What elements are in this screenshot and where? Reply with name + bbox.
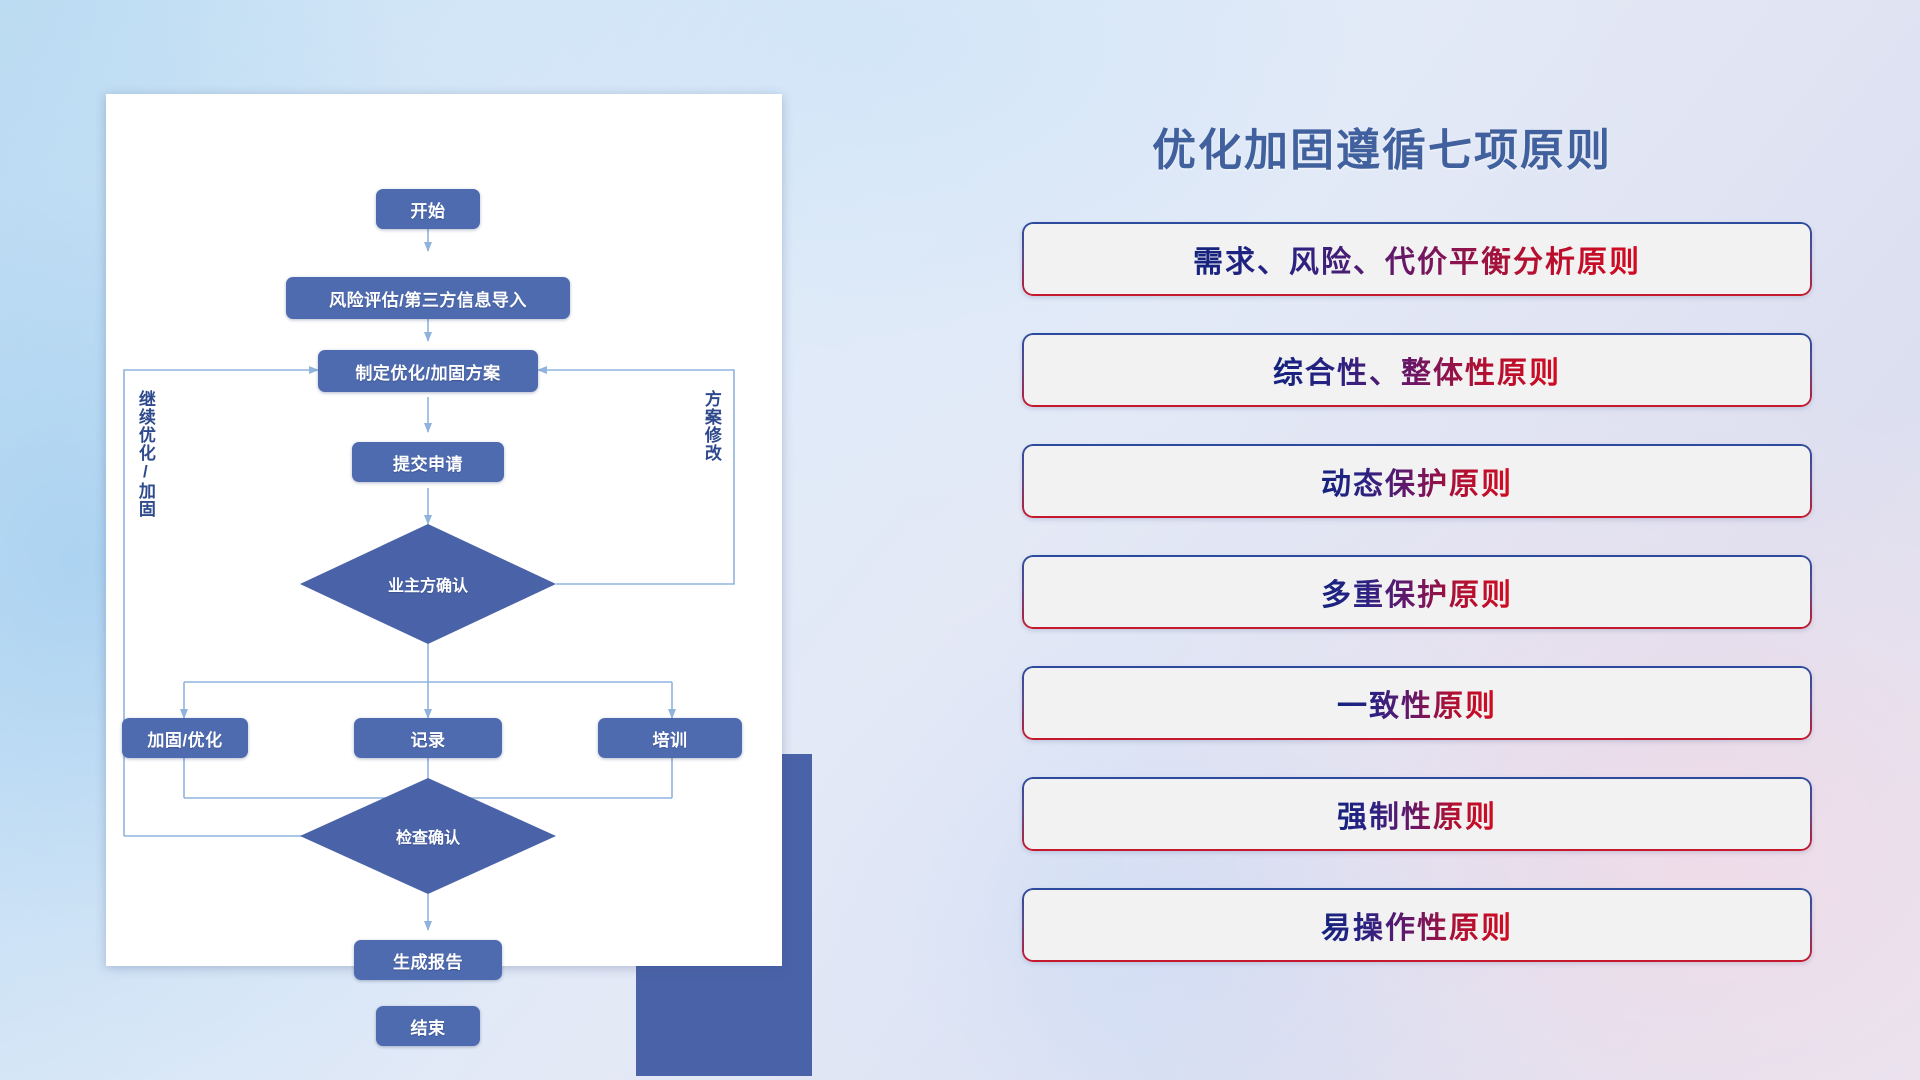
flowchart-panel: 开始 风险评估/第三方信息导入 制定优化/加固方案 提交申请 业主方确认 加固/… [106,94,782,966]
principle-card-label: 动态保护原则 [1321,459,1513,503]
flow-node-reinforce-optimize[interactable]: 加固/优化 [122,718,248,758]
principle-card-label: 综合性、整体性原则 [1273,348,1561,392]
principle-card[interactable]: 易操作性原则 [1022,888,1812,962]
principles-panel: 优化加固遵循七项原则 需求、风险、代价平衡分析原则 综合性、整体性原则 动态保护… [1022,94,1812,984]
flow-decision-owner-confirm-label: 业主方确认 [388,572,468,596]
flow-node-generate-report[interactable]: 生成报告 [354,940,502,980]
flow-node-submit-application-label: 提交申请 [393,450,463,475]
principle-card-label: 一致性原则 [1337,681,1497,725]
flow-node-start-label: 开始 [411,197,446,222]
flow-node-submit-application[interactable]: 提交申请 [352,442,504,482]
flow-node-make-plan[interactable]: 制定优化/加固方案 [318,350,538,392]
flow-node-end-label: 结束 [411,1014,446,1039]
principles-title: 优化加固遵循七项原则 [1152,114,1612,178]
flow-node-risk-assessment[interactable]: 风险评估/第三方信息导入 [286,277,570,319]
flow-node-risk-assessment-label: 风险评估/第三方信息导入 [329,286,527,311]
flow-node-start[interactable]: 开始 [376,189,480,229]
principle-card-label: 需求、风险、代价平衡分析原则 [1193,237,1641,281]
principle-card[interactable]: 一致性原则 [1022,666,1812,740]
slide-root: 开始 风险评估/第三方信息导入 制定优化/加固方案 提交申请 业主方确认 加固/… [0,0,1920,1080]
flow-node-training[interactable]: 培训 [598,718,742,758]
flow-node-make-plan-label: 制定优化/加固方案 [355,359,500,384]
flow-node-training-label: 培训 [653,726,688,751]
principles-card-list: 需求、风险、代价平衡分析原则 综合性、整体性原则 动态保护原则 多重保护原则 一… [1022,222,1812,962]
principle-card[interactable]: 多重保护原则 [1022,555,1812,629]
flow-edge-label-plan-revision: 方案修改 [702,390,720,462]
flow-node-end[interactable]: 结束 [376,1006,480,1046]
principle-card[interactable]: 动态保护原则 [1022,444,1812,518]
flow-edge-label-continue-optimize: 继续优化/加固 [136,390,154,518]
principle-card[interactable]: 强制性原则 [1022,777,1812,851]
flow-node-reinforce-optimize-label: 加固/优化 [147,726,222,751]
flow-node-generate-report-label: 生成报告 [393,948,463,973]
flow-node-record-label: 记录 [411,726,446,751]
flow-decision-check-confirm-label: 检查确认 [396,824,460,848]
flow-node-record[interactable]: 记录 [354,718,502,758]
principle-card-label: 多重保护原则 [1321,570,1513,614]
principle-card-label: 强制性原则 [1337,792,1497,836]
principle-card[interactable]: 综合性、整体性原则 [1022,333,1812,407]
principle-card-label: 易操作性原则 [1321,903,1513,947]
principle-card[interactable]: 需求、风险、代价平衡分析原则 [1022,222,1812,296]
flowchart-panel-wrapper: 开始 风险评估/第三方信息导入 制定优化/加固方案 提交申请 业主方确认 加固/… [106,94,782,966]
